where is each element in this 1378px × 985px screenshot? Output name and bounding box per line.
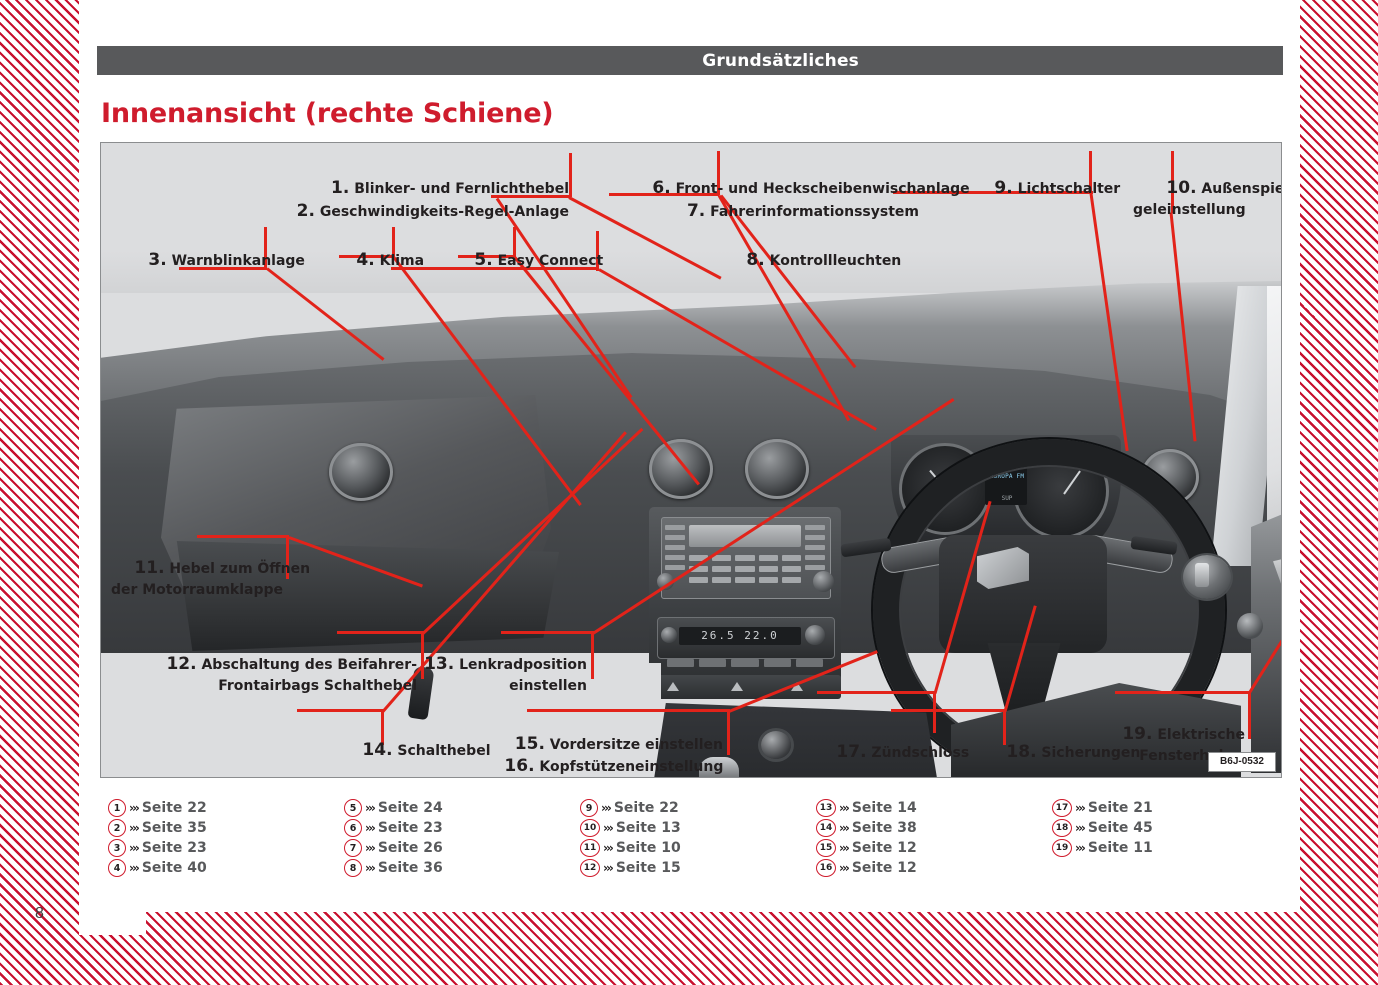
chevron-right-icon: ››› (365, 821, 374, 835)
legend-item[interactable]: 13›››Seite 14 (816, 798, 917, 818)
legend-number-badge: 9 (580, 799, 598, 817)
leader-16-vertical (727, 709, 730, 755)
callout-17: 17. Zündschloss (803, 723, 969, 778)
chevron-right-icon: ››› (365, 841, 374, 855)
interior-view-figure: 26.5 22.0 EUROPA FM SUP (100, 142, 1282, 778)
legend-column-5: 17›››Seite 2118›››Seite 4519›››Seite 11 (1052, 798, 1153, 858)
legend-column-1: 1›››Seite 222›››Seite 353›››Seite 234›››… (108, 798, 207, 878)
legend-page-reference: Seite 14 (852, 800, 917, 816)
legend-number-badge: 13 (816, 799, 836, 817)
chevron-right-icon: ››› (1075, 841, 1084, 855)
manual-page: 8 Grundsätzliches Innenansicht (rechte S… (0, 0, 1378, 985)
figure-code: B6J-0532 (1208, 752, 1276, 772)
legend-page-reference: Seite 22 (142, 800, 207, 816)
climate-display: 26.5 22.0 (679, 627, 801, 645)
legend-number-badge: 11 (580, 839, 600, 857)
switch-icon-centre (731, 682, 743, 691)
legend-page-reference: Seite 45 (1088, 820, 1153, 836)
legend-column-2: 5›››Seite 246›››Seite 237›››Seite 268›››… (344, 798, 443, 878)
legend-page-reference: Seite 24 (378, 800, 443, 816)
legend-item[interactable]: 6›››Seite 23 (344, 818, 443, 838)
legend-page-reference: Seite 26 (378, 840, 443, 856)
mirror-adjust-control (1237, 613, 1263, 639)
climate-knob-left (661, 627, 677, 643)
chevron-right-icon: ››› (839, 841, 848, 855)
legend-item[interactable]: 16›››Seite 12 (816, 858, 917, 878)
legend-number-badge: 4 (108, 859, 126, 877)
legend-item[interactable]: 15›››Seite 12 (816, 838, 917, 858)
legend-number-badge: 7 (344, 839, 362, 857)
legend-number-badge: 1 (108, 799, 126, 817)
legend-item[interactable]: 19›››Seite 11 (1052, 838, 1153, 858)
legend-page-reference: Seite 40 (142, 860, 207, 876)
page-number: 8 (35, 905, 44, 923)
callout-13: 13. Lenkradpositioneinstellen (371, 635, 587, 714)
leader-19-vertical (1248, 691, 1251, 739)
legend-page-reference: Seite 13 (616, 820, 681, 836)
legend-page-reference: Seite 21 (1088, 800, 1153, 816)
legend-page-reference: Seite 38 (852, 820, 917, 836)
legend-number-badge: 15 (816, 839, 836, 857)
leader-12-horizontal (337, 631, 423, 634)
chevron-right-icon: ››› (129, 801, 138, 815)
leader-11-horizontal (197, 535, 289, 538)
chevron-right-icon: ››› (1075, 801, 1084, 815)
callout-4: 4. Klima (323, 231, 424, 290)
leader-17-horizontal (817, 691, 935, 694)
legend-page-reference: Seite 10 (616, 840, 681, 856)
legend-item[interactable]: 18›››Seite 45 (1052, 818, 1153, 838)
hazard-warning-icon (667, 682, 679, 691)
callout-10: 10. Außenspie-geleinstellung (1133, 159, 1282, 238)
chevron-right-icon: ››› (129, 841, 138, 855)
climate-buttons (667, 659, 823, 667)
legend-item[interactable]: 3›››Seite 23 (108, 838, 207, 858)
air-vent-centre-right (745, 439, 809, 499)
callout-12: 12. Abschaltung des Beifahrer-Frontairba… (101, 635, 417, 714)
callout-16: 16. Kopfstützeneinstellung (471, 737, 723, 778)
legend-number-badge: 14 (816, 819, 836, 837)
radio-knob-right (813, 571, 834, 592)
legend-item[interactable]: 11›››Seite 10 (580, 838, 681, 858)
chevron-right-icon: ››› (839, 801, 848, 815)
legend-number-badge: 5 (344, 799, 362, 817)
callout-9: 9. Lichtschalter (961, 159, 1120, 218)
callout-14: 14. Schalthebel (329, 721, 491, 778)
climate-knob-right (805, 625, 825, 645)
air-vent-left (329, 443, 393, 501)
legend-number-badge: 10 (580, 819, 600, 837)
legend-page-reference: Seite 12 (852, 860, 917, 876)
legend-page-reference: Seite 12 (852, 840, 917, 856)
legend-item[interactable]: 5›››Seite 24 (344, 798, 443, 818)
legend-page-reference: Seite 15 (616, 860, 681, 876)
legend-number-badge: 3 (108, 839, 126, 857)
running-head-title: Grundsätzliches (702, 51, 859, 71)
leader-18-horizontal (891, 709, 1005, 712)
radio-right-buttons (805, 525, 825, 575)
legend-number-badge: 16 (816, 859, 836, 877)
light-switch-knob (1195, 563, 1209, 587)
chevron-right-icon: ››› (603, 821, 612, 835)
legend-number-badge: 17 (1052, 799, 1072, 817)
radio-left-buttons (665, 525, 685, 575)
page-reference-legend: 1›››Seite 222›››Seite 353›››Seite 234›››… (108, 798, 1288, 884)
legend-item[interactable]: 7›››Seite 26 (344, 838, 443, 858)
legend-number-badge: 18 (1052, 819, 1072, 837)
legend-item[interactable]: 1›››Seite 22 (108, 798, 207, 818)
chevron-right-icon: ››› (603, 861, 612, 875)
legend-item[interactable]: 12›››Seite 15 (580, 858, 681, 878)
legend-page-reference: Seite 22 (614, 800, 679, 816)
page-number-box (79, 895, 146, 935)
legend-number-badge: 19 (1052, 839, 1072, 857)
page-title: Innenansicht (rechte Schiene) (101, 98, 553, 129)
chevron-right-icon: ››› (839, 821, 848, 835)
callout-11: 11. Hebel zum Öffnender Motorraumklappe (101, 539, 283, 618)
legend-number-badge: 6 (344, 819, 362, 837)
legend-page-reference: Seite 23 (142, 840, 207, 856)
chevron-right-icon: ››› (129, 861, 138, 875)
legend-item[interactable]: 14›››Seite 38 (816, 818, 917, 838)
legend-column-4: 13›››Seite 1414›››Seite 3815›››Seite 121… (816, 798, 917, 878)
legend-item[interactable]: 17›››Seite 21 (1052, 798, 1153, 818)
running-head-bar (97, 46, 1283, 75)
leader-13-vertical (591, 631, 594, 679)
chevron-right-icon: ››› (365, 861, 374, 875)
legend-item[interactable]: 4›››Seite 40 (108, 858, 207, 878)
legend-item[interactable]: 8›››Seite 36 (344, 858, 443, 878)
chevron-right-icon: ››› (365, 801, 374, 815)
leader-13-horizontal (501, 631, 593, 634)
legend-page-reference: Seite 36 (378, 860, 443, 876)
chevron-right-icon: ››› (129, 821, 138, 835)
callout-8: 8. Kontrollleuchten (713, 231, 901, 290)
legend-number-badge: 12 (580, 859, 600, 877)
legend-number-badge: 2 (108, 819, 126, 837)
legend-item[interactable]: 10›››Seite 13 (580, 818, 681, 838)
legend-number-badge: 8 (344, 859, 362, 877)
chevron-right-icon: ››› (601, 801, 610, 815)
ignition-lock (761, 731, 791, 759)
chevron-right-icon: ››› (839, 861, 848, 875)
legend-column-3: 9›››Seite 2210›››Seite 1311›››Seite 1012… (580, 798, 681, 878)
chevron-right-icon: ››› (1075, 821, 1084, 835)
legend-page-reference: Seite 35 (142, 820, 207, 836)
chevron-right-icon: ››› (603, 841, 612, 855)
legend-page-reference: Seite 23 (378, 820, 443, 836)
air-vent-centre-left (649, 439, 713, 499)
legend-item[interactable]: 2›››Seite 35 (108, 818, 207, 838)
callout-3: 3. Warnblinkanlage (115, 231, 305, 290)
legend-item[interactable]: 9›››Seite 22 (580, 798, 681, 818)
leader-19-horizontal (1115, 691, 1251, 694)
legend-page-reference: Seite 11 (1088, 840, 1153, 856)
